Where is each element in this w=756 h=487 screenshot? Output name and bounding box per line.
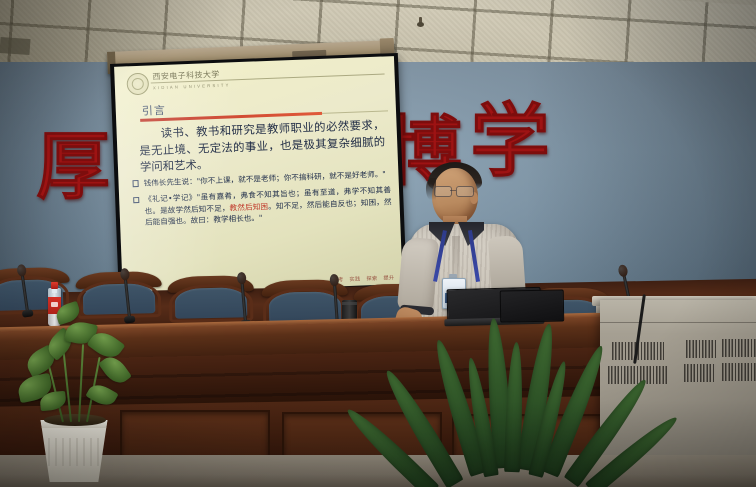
sleeve-left [397,237,439,314]
glasses-icon [434,186,476,195]
slide-logo-row: 西安电子科技大学 XIDIAN UNIVERSITY [126,62,385,98]
slide-surface: 西安电子科技大学 XIDIAN UNIVERSITY 引言 读书、教书和研究是教… [114,56,403,295]
vent-grill [608,366,668,384]
projection-screen: 西安电子科技大学 XIDIAN UNIVERSITY 引言 读书、教书和研究是教… [110,53,407,300]
university-name-en: XIDIAN UNIVERSITY [153,82,231,90]
slogan-char-1: 厚 [36,130,110,204]
sprinkler-head-icon [417,17,424,28]
chair [75,271,162,327]
vent-grill [722,339,756,357]
vent-grill [722,363,756,381]
footer-tag: 提升 [383,274,394,281]
footer-tag: 实践 [349,276,360,283]
slide-bullet-list: 钱伟长先生说："你不上课，就不是老师；你不搞科研，就不是好老师。" 《礼记•学记… [132,168,392,233]
floor [0,455,756,487]
university-seal-icon [126,73,149,96]
bullet-text-highlight: 教然后知困 [229,202,268,212]
vent-grill [684,364,716,382]
list-item: 《礼记•学记》"虽有嘉肴，弗食不知其旨也；虽有至道，弗学不知其善也。是故学然后知… [133,185,392,229]
plant-soil [44,414,106,426]
bullet-square-icon [133,197,140,204]
footer-tag: 探索 [366,275,377,282]
slide-title-underline-ext [322,110,388,114]
slide-section-title: 引言 [142,102,167,119]
bullet-square-icon [132,180,139,187]
slide-paragraph: 读书、教书和研究是教师职业的必然要求，是无止境、无定法的事业，也是极其复杂细腻的… [138,117,386,176]
laptop-secondary[interactable] [500,289,567,326]
lecture-hall-photo: 厚 德 博 学 西安电子科技大学 XIDIAN UNIVERSITY 引言 读书… [0,0,756,487]
vent-grill [686,340,716,358]
